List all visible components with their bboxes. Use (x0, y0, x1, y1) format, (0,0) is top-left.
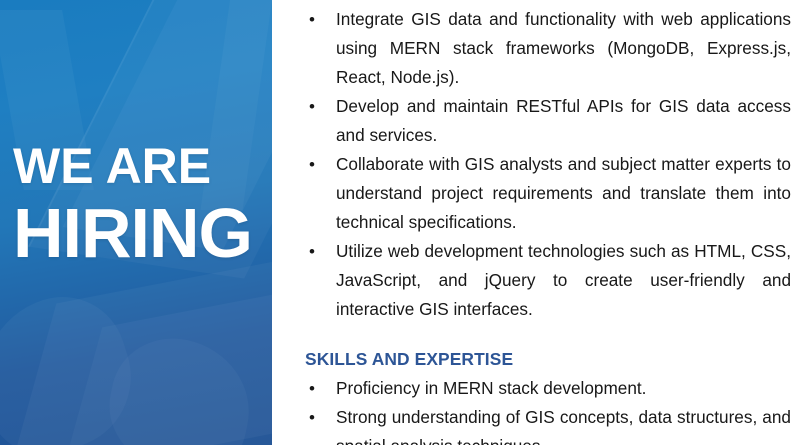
list-item-label: Strong understanding of GIS concepts, da… (336, 407, 791, 445)
job-description-column: Online, and ArcGIS Enterprise. • Integra… (272, 0, 800, 445)
bullet-icon: • (309, 92, 315, 121)
list-item: • Utilize web development technologies s… (305, 237, 791, 324)
list-item: • Strong understanding of GIS concepts, … (305, 403, 791, 445)
list-item-label: Utilize web development technologies suc… (336, 241, 791, 319)
hero-headline-line-1: WE ARE (13, 142, 252, 190)
list-item: • Collaborate with GIS analysts and subj… (305, 150, 791, 237)
hero-headline: WE ARE HIRING (13, 142, 252, 267)
bullet-icon: • (309, 403, 315, 432)
bullet-icon: • (309, 5, 315, 34)
hero-panel: WE ARE HIRING (0, 0, 272, 445)
bullet-icon: • (309, 374, 315, 403)
list-item-label: Collaborate with GIS analysts and subjec… (336, 154, 791, 232)
job-posting-page: WE ARE HIRING Online, and ArcGIS Enterpr… (0, 0, 800, 445)
bullet-icon: • (309, 237, 315, 266)
hero-headline-line-2: HIRING (13, 200, 252, 267)
list-item: • Integrate GIS data and functionality w… (305, 5, 791, 92)
job-description-body: Online, and ArcGIS Enterprise. • Integra… (305, 0, 791, 445)
list-item: • Develop and maintain RESTful APIs for … (305, 92, 791, 150)
section-heading-skills-and-expertise: SKILLS AND EXPERTISE (305, 346, 791, 372)
bullet-icon: • (309, 150, 315, 179)
list-item-label: Develop and maintain RESTful APIs for GI… (336, 96, 791, 145)
list-item: • Proficiency in MERN stack development. (305, 374, 791, 403)
list-item-label: Proficiency in MERN stack development. (336, 378, 646, 398)
list-item-label: Integrate GIS data and functionality wit… (336, 9, 791, 87)
